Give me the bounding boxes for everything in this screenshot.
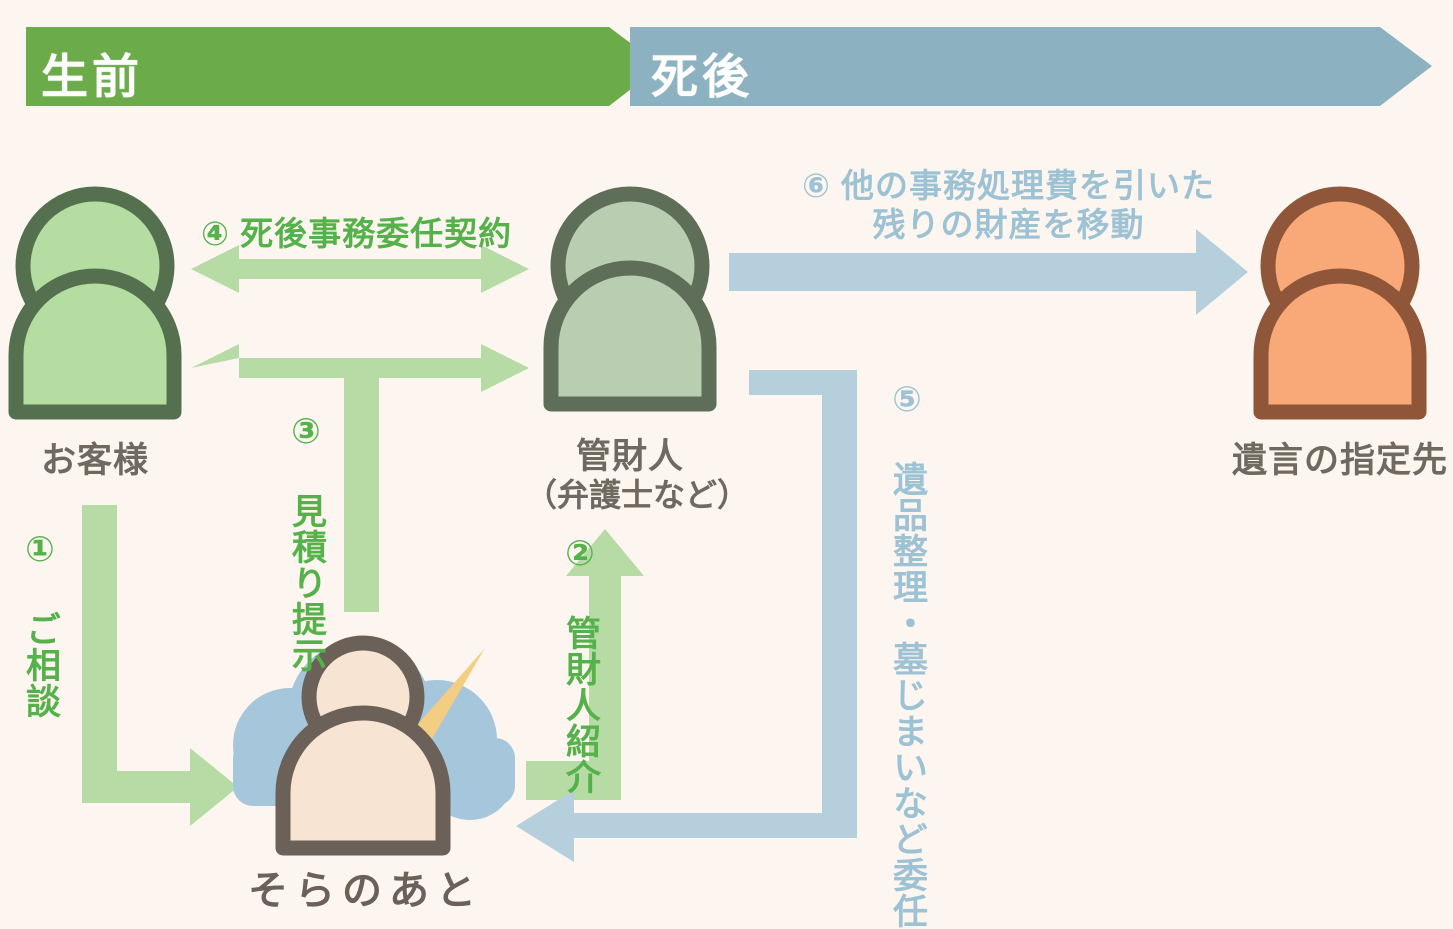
banner-label-before-death: 生前 (41, 38, 143, 107)
actor-label-customer: お客様 (0, 432, 190, 483)
actor-label-soranoato: そらのあと (238, 858, 493, 916)
flow-label-3: ③ 見積り提示 (289, 412, 324, 642)
flow-label-5: ⑤ 遺品整理・墓じまいなど委任 (890, 380, 925, 870)
person-icon-trustee (551, 194, 709, 404)
person-icon-customer (16, 194, 174, 412)
actor-sublabel-trustee: （弁護士など） (525, 470, 735, 516)
arrow-1-consult (82, 505, 238, 826)
actor-label-beneficiary: 遺言の指定先 (1232, 432, 1447, 483)
diagram-canvas: 生前 死後 お客様 管財人 （弁護士など） 遺言の指定先 そらのあと ④ 死後事… (0, 0, 1453, 918)
person-icon-beneficiary (1261, 194, 1419, 412)
logo-soranoato (233, 640, 515, 848)
flow-label-6-line2: 残りの財産を移動 (776, 206, 1241, 245)
flow-label-6-line1: ⑥ 他の事務処理費を引いた (776, 167, 1241, 206)
flow-label-2: ② 管財人紹介 (563, 534, 598, 799)
flow-label-1: ① ご相談 (23, 530, 58, 730)
arrow-3-quote-stem (344, 372, 379, 612)
flow-label-6: ⑥ 他の事務処理費を引いた 残りの財産を移動 (776, 167, 1241, 245)
flow-label-4: ④ 死後事務委任契約 (201, 207, 512, 255)
banner-label-after-death: 死後 (651, 38, 753, 107)
